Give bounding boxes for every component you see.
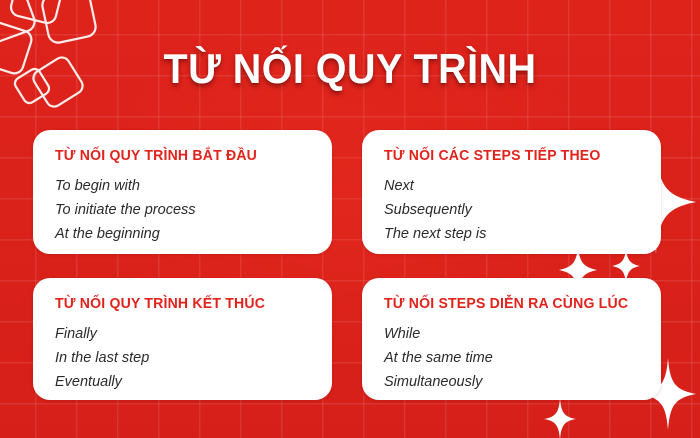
list-item: In the last step xyxy=(55,346,310,370)
poster-canvas: TỪ NỐI QUY TRÌNH TỪ NỐI QUY TRÌNH BẮT ĐẦ… xyxy=(0,0,700,438)
card-simultaneous-steps: TỪ NỐI STEPS DIỄN RA CÙNG LÚC While At t… xyxy=(362,278,661,400)
list-item: Eventually xyxy=(55,370,310,394)
list-item: Simultaneously xyxy=(384,370,639,394)
list-item: Subsequently xyxy=(384,198,639,222)
list-item: At the beginning xyxy=(55,222,310,246)
list-item: The next step is xyxy=(384,222,639,246)
card-grid: TỪ NỐI QUY TRÌNH BẮT ĐẦU To begin with T… xyxy=(33,130,667,400)
list-item: While xyxy=(384,322,639,346)
card-next-steps: TỪ NỐI CÁC STEPS TIẾP THEO Next Subseque… xyxy=(362,130,661,254)
card-title: TỪ NỐI QUY TRÌNH BẮT ĐẦU xyxy=(55,147,302,165)
card-title: TỪ NỐI QUY TRÌNH KẾT THÚC xyxy=(55,295,302,313)
list-item: Finally xyxy=(55,322,310,346)
page-title: TỪ NỐI QUY TRÌNH xyxy=(21,44,679,94)
list-item: Next xyxy=(384,174,639,198)
list-item: At the same time xyxy=(384,346,639,370)
card-item-list: To begin with To initiate the process At… xyxy=(55,174,310,246)
card-item-list: Next Subsequently The next step is xyxy=(384,174,639,246)
card-item-list: While At the same time Simultaneously xyxy=(384,322,639,394)
list-item: To begin with xyxy=(55,174,310,198)
list-item: To initiate the process xyxy=(55,198,310,222)
card-title: TỪ NỐI STEPS DIỄN RA CÙNG LÚC xyxy=(384,295,631,313)
card-item-list: Finally In the last step Eventually xyxy=(55,322,310,394)
card-process-end: TỪ NỐI QUY TRÌNH KẾT THÚC Finally In the… xyxy=(33,278,332,400)
card-process-start: TỪ NỐI QUY TRÌNH BẮT ĐẦU To begin with T… xyxy=(33,130,332,254)
card-title: TỪ NỐI CÁC STEPS TIẾP THEO xyxy=(384,147,631,165)
